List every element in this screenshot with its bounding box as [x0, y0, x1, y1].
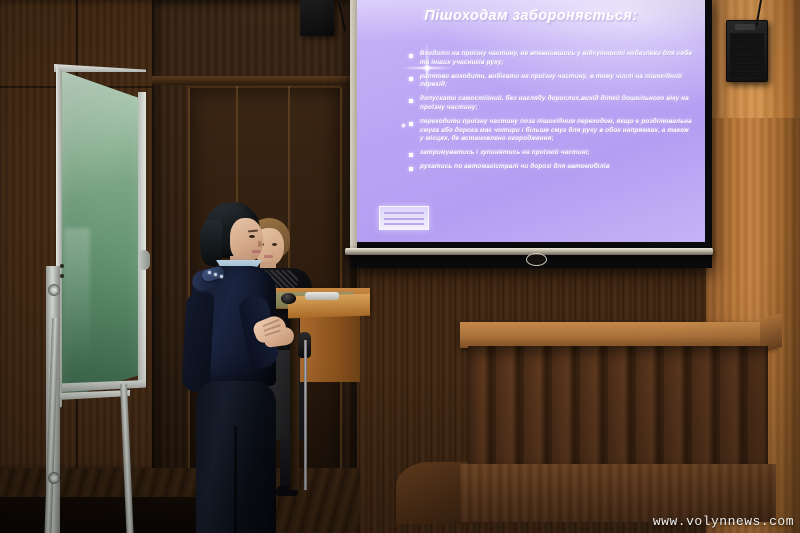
list-item: раптово виходити, вибігати на проїзну ча… [409, 73, 693, 90]
bullet-square-icon [409, 167, 413, 171]
list-item: переходити проїзну частину поза пішохідн… [409, 118, 693, 144]
watermark: www.volynnews.com [653, 514, 794, 529]
chalkboard-glare [64, 228, 90, 368]
wall-speaker-icon [726, 20, 768, 82]
bullet-text: допускати самостійний, без нагляду дорос… [420, 95, 693, 112]
list-item: допускати самостійний, без нагляду дорос… [409, 95, 693, 112]
chalkboard-frame-right [138, 92, 146, 384]
wooden-bench [460, 322, 780, 522]
speaker-eye [249, 235, 255, 238]
thumbnail-line [384, 223, 424, 225]
bullet-text: рухатись по автомагістралі чи дорозі для… [420, 163, 610, 172]
wall-speaker-left-icon [300, 0, 334, 36]
projection-screen: Пішоходам забороняється: Входити на прої… [350, 0, 712, 268]
bullet-square-icon [409, 153, 413, 157]
bullet-square-icon [409, 99, 413, 103]
screenshot-scene: Пішоходам забороняється: Входити на прої… [0, 0, 800, 533]
speaker-mouth [252, 250, 261, 253]
epaulette-pip-2 [214, 273, 217, 276]
presentation-slide: Пішоходам забороняється: Входити на прої… [357, 0, 705, 242]
chalkboard-knob[interactable] [138, 250, 150, 270]
list-item: рухатись по автомагістралі чи дорозі для… [409, 163, 693, 172]
bullet-text: переходити проїзну частину поза пішохідн… [420, 118, 693, 144]
bullet-text: Входити на проїзну частину, не впевнивши… [420, 50, 693, 67]
speaker-badge [735, 24, 755, 30]
slide-bullet-list: Входити на проїзну частину, не впевнивши… [409, 50, 693, 178]
screen-pull-ring[interactable] [526, 253, 547, 266]
sparkle-small-icon [400, 121, 407, 129]
bullet-text: затримуватись і зупинятись на проїзній ч… [420, 149, 590, 158]
thumbnail-line [384, 218, 424, 220]
easel-hole-1 [60, 264, 64, 268]
bullet-square-icon [409, 122, 413, 126]
easel-bolt-lower[interactable] [48, 472, 60, 484]
list-item: Входити на проїзну частину, не впевнивши… [409, 50, 693, 67]
floor-shadow [0, 497, 200, 533]
bullet-square-icon [409, 54, 413, 58]
easel-hole-2 [60, 274, 64, 278]
doorway-lintel [152, 76, 357, 85]
thumbnail-line [384, 212, 424, 214]
bench-front-slats [468, 346, 768, 466]
slide-thumbnail-image [379, 206, 429, 230]
bullet-text: раптово виходити, вибігати на проїзну ча… [420, 73, 693, 90]
speaker-leg-split [234, 426, 237, 533]
speaker-grill [730, 33, 764, 78]
screen-left-lip [350, 0, 357, 248]
speaker-arm-left [181, 291, 214, 392]
epaulette-pip-1 [208, 271, 211, 274]
easel-bolt-upper[interactable] [48, 284, 60, 296]
speaker-nose [258, 241, 262, 247]
epaulette-pip-3 [220, 275, 223, 278]
speaker-person [178, 196, 318, 533]
speaker-hair-side [200, 220, 222, 266]
list-item: затримуватись і зупинятись на проїзній ч… [409, 149, 693, 158]
slide-title: Пішоходам забороняється: [357, 8, 705, 24]
bullet-square-icon [409, 77, 413, 81]
green-chalkboard [28, 68, 164, 488]
bench-top-cap [460, 322, 776, 348]
